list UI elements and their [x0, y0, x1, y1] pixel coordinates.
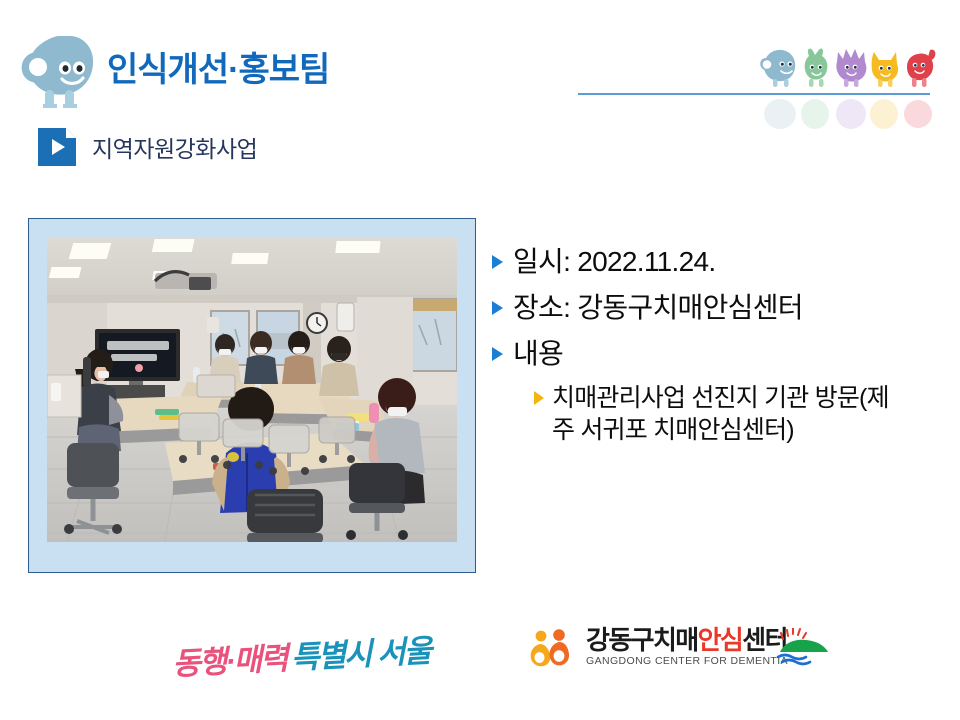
purple-crown-character [836, 49, 866, 87]
yellow-cat-character [872, 52, 899, 87]
subtitle-row: 지역자원강화사업 [38, 128, 257, 166]
list-item: 치매관리사업 선진지 기관 방문(제주 서귀포 치매안심센터) [534, 382, 932, 447]
gangdong-logo-ko-2: 치매 [653, 625, 698, 655]
content-bullet-list: 일시: 2022.11.24. 장소: 강동구치매안심센터 내용 치매관리사업 … [492, 244, 932, 447]
triangle-bullet-icon [492, 301, 503, 315]
two-people-mark-icon [528, 629, 580, 669]
sun-hill-wave-icon [774, 628, 832, 668]
triangle-sub-bullet-icon [534, 391, 544, 405]
bullet-label-place: 장소: 강동구치매안심센터 [513, 290, 803, 327]
meeting-room-photo [47, 237, 457, 542]
content-sub-bullet-list: 치매관리사업 선진지 기관 방문(제주 서귀포 치매안심센터) [534, 382, 932, 447]
triangle-bullet-icon [492, 255, 503, 269]
red-bird-character [907, 50, 935, 87]
subtitle-label: 지역자원강화사업 [92, 130, 257, 164]
seoul-logo-slogan: 동행·매력 [171, 641, 287, 682]
mascot-character-row [760, 46, 938, 90]
mascot-character-reflection [760, 96, 938, 136]
green-bunny-character [805, 49, 828, 87]
list-item: 장소: 강동구치매안심센터 [492, 290, 932, 327]
gangdong-logo-en: GANGDONG CENTER FOR DEMENTIA [586, 655, 788, 667]
gangdong-logo-text: 강동구치매안심센터 GANGDONG CENTER FOR DEMENTIA [586, 626, 788, 667]
gangdong-logo-ko-1: 강동구 [586, 625, 653, 655]
slide-canvas: 인식개선·홍보팀 지역자원강화사업 [0, 0, 960, 720]
sub-bullet-label-visit: 치매관리사업 선진지 기관 방문(제주 서귀포 치매안심센터) [552, 382, 904, 447]
header-decoration [578, 38, 938, 118]
bullet-label-date: 일시: 2022.11.24. [513, 244, 715, 281]
seoul-logo-name: 특별시 서울 [290, 633, 431, 675]
triangle-bullet-icon [492, 347, 503, 361]
blue-elephant-character [760, 50, 795, 87]
page-title: 인식개선·홍보팀 [107, 50, 329, 91]
list-item: 내용 [492, 336, 932, 373]
gangdong-logo-ko-3: 안심 [698, 625, 743, 655]
photo-frame [28, 218, 476, 573]
gangdong-dementia-center-logo: 강동구치매안심센터 GANGDONG CENTER FOR DEMENTIA [528, 626, 828, 680]
play-triangle-icon [38, 128, 76, 166]
list-item: 일시: 2022.11.24. [492, 244, 932, 281]
seoul-city-logo: 동행·매력 특별시 서울 [172, 624, 434, 680]
bullet-label-content: 내용 [513, 336, 563, 373]
blue-elephant-mascot-icon [18, 32, 102, 112]
